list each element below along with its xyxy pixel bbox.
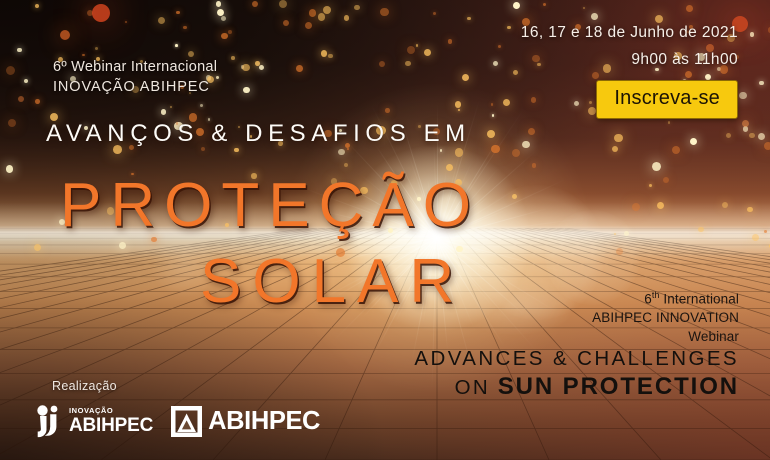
logo-inovacao-abihpec[interactable]: INOVAÇÃO ABIHPEC	[34, 404, 153, 438]
headline-title: PROTEÇÃO SOLAR	[60, 168, 480, 320]
event-time: 9h00 às 11h00	[521, 46, 738, 73]
register-button[interactable]: Inscreva-se	[596, 80, 738, 119]
solar-protection-webinar-banner: 6º Webinar Internacional INOVAÇÃO ABIHPE…	[0, 0, 770, 460]
inovacao-person-icon	[34, 404, 64, 438]
english-headline-line-2: ON SUN PROTECTION	[414, 372, 739, 403]
english-headline-sun-protection: SUN PROTECTION	[498, 373, 739, 400]
logo-abihpec[interactable]: ABIHPEC	[171, 406, 320, 437]
abihpec-wordmark: ABIHPEC	[208, 407, 320, 436]
english-line-1: 6th International	[592, 286, 739, 309]
credits-label: Realização	[52, 379, 117, 393]
inovacao-bottom-text: ABIHPEC	[69, 416, 153, 435]
kicker-line-1: 6º Webinar Internacional	[53, 57, 217, 77]
english-headline-on: ON	[455, 376, 498, 399]
kicker-line-2: INOVAÇÃO ABIHPEC	[53, 77, 217, 97]
english-ordinal-suffix: th	[652, 290, 660, 300]
event-date: 16, 17 e 18 de Junho de 2021	[521, 19, 738, 46]
headline-subtitle: AVANÇOS & DESAFIOS EM	[46, 120, 471, 148]
abihpec-square-triangle-icon	[171, 406, 202, 437]
english-event-name: 6th International ABIHPEC INNOVATION Web…	[592, 286, 739, 346]
english-international-label: International	[660, 292, 739, 307]
sponsor-logos: INOVAÇÃO ABIHPEC ABIHPEC	[34, 404, 320, 438]
english-line-2: ABIHPEC INNOVATION	[592, 309, 739, 328]
headline-line-2: SOLAR	[200, 244, 480, 320]
english-line-3: Webinar	[592, 328, 739, 347]
english-ordinal-number: 6	[644, 292, 652, 307]
headline-line-1: PROTEÇÃO	[60, 171, 480, 240]
inovacao-top-text: INOVAÇÃO	[69, 407, 153, 415]
event-datetime: 16, 17 e 18 de Junho de 2021 9h00 às 11h…	[521, 19, 738, 73]
english-headline-line-1: ADVANCES & CHALLENGES	[414, 345, 739, 372]
inovacao-wordmark: INOVAÇÃO ABIHPEC	[69, 407, 153, 435]
event-kicker: 6º Webinar Internacional INOVAÇÃO ABIHPE…	[53, 57, 217, 97]
english-headline: ADVANCES & CHALLENGES ON SUN PROTECTION	[414, 345, 739, 403]
